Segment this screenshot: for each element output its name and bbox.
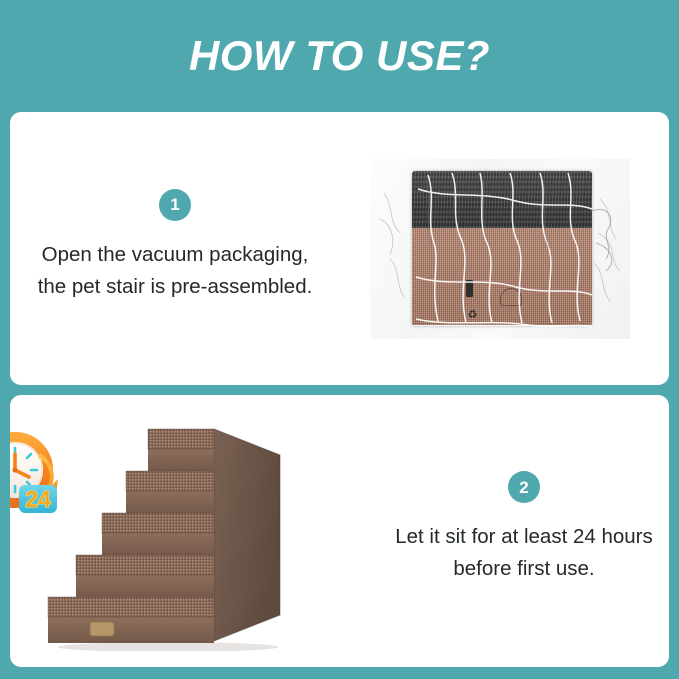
- pet-stairs-image: [18, 419, 318, 651]
- step-2-number-badge: 2: [508, 471, 540, 503]
- package-dark-section: [412, 171, 592, 228]
- step-1-description: Open the vacuum packaging, the pet stair…: [25, 239, 325, 303]
- step-2-media: 24: [10, 395, 379, 667]
- step-card-2: 24: [10, 395, 669, 667]
- package-loop-detail: [500, 288, 522, 306]
- step-2-description: Let it sit for at least 24 hours before …: [379, 521, 669, 585]
- step-2-text-block: 2 Let it sit for at least 24 hours befor…: [379, 395, 669, 667]
- package-brown-section: ♻: [412, 228, 592, 326]
- page-title: HOW TO USE?: [189, 35, 490, 77]
- step-1-media: ♻: [340, 112, 669, 385]
- compressed-stair-block: ♻: [412, 171, 592, 326]
- step-card-1: 1 Open the vacuum packaging, the pet sta…: [10, 112, 669, 385]
- step-1-text-block: 1 Open the vacuum packaging, the pet sta…: [10, 112, 340, 385]
- vacuum-package-image: ♻: [370, 159, 630, 339]
- infographic-page: HOW TO USE? 1 Open the vacuum packaging,…: [0, 0, 679, 679]
- recycle-icon: ♻: [468, 310, 479, 321]
- package-tag-icon: [466, 280, 473, 297]
- header-banner: HOW TO USE?: [0, 0, 679, 112]
- step-1-number-badge: 1: [159, 189, 191, 221]
- brand-label-tag: [90, 622, 114, 636]
